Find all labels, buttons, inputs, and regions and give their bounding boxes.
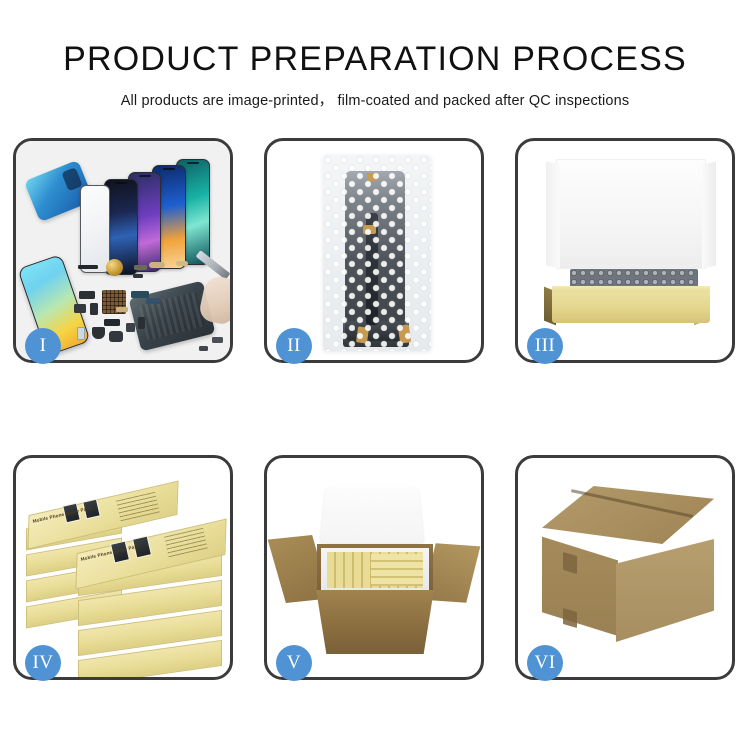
part-icon: [133, 274, 143, 278]
step-badge-4: IV: [25, 645, 61, 681]
part-icon: [126, 323, 135, 332]
part-icon: [138, 317, 145, 329]
carton-with-foam-illustration: [267, 458, 481, 677]
process-steps-grid: I II: [13, 138, 737, 680]
part-icon: [109, 331, 123, 342]
step-panel-5: V: [264, 455, 484, 680]
step-image-4: Mobile Phone Spare Parts Mobile Phone Sp…: [16, 458, 230, 677]
yellow-box-front-icon: [552, 291, 710, 323]
carton-right-face-icon: [616, 530, 714, 642]
part-icon: [176, 261, 188, 266]
step-panel-1: I: [13, 138, 233, 363]
part-icon: [90, 303, 98, 315]
step-panel-4: Mobile Phone Spare Parts Mobile Phone Sp…: [13, 455, 233, 680]
step-badge-1: I: [25, 328, 61, 364]
part-icon: [74, 304, 86, 313]
step-panel-3: III: [515, 138, 735, 363]
header: PRODUCT PREPARATION PROCESS All products…: [0, 0, 750, 110]
gold-connector-icon: [356, 326, 369, 343]
step-panel-2: II: [264, 138, 484, 363]
part-icon: [131, 291, 149, 298]
bubble-wrap-illustration: [267, 141, 481, 360]
step-image-6: [518, 458, 732, 677]
box-stack: Mobile Phone Spare Parts Mobile Phone Sp…: [22, 474, 230, 672]
phones-and-parts-illustration: [16, 141, 230, 360]
notch-icon: [187, 162, 199, 164]
stacked-boxes-illustration: Mobile Phone Spare Parts Mobile Phone Sp…: [16, 458, 230, 677]
part-icon: [104, 319, 120, 326]
part-icon: [116, 307, 128, 312]
open-yellow-box-illustration: [518, 141, 732, 360]
carton-tape-icon: [563, 552, 577, 574]
part-icon: [78, 265, 98, 269]
carton-front-icon: [311, 590, 439, 654]
step-badge-2: II: [276, 328, 312, 364]
part-icon: [212, 337, 223, 343]
carton-left-face-icon: [542, 528, 618, 636]
part-base-icon: [343, 321, 409, 347]
part-icon: [149, 262, 165, 268]
part-icon: [199, 346, 208, 351]
step-badge-6: VI: [527, 645, 563, 681]
page-title: PRODUCT PREPARATION PROCESS: [0, 42, 750, 78]
step-image-1: [16, 141, 230, 360]
yellow-boxes-icon: [371, 554, 423, 586]
step-image-5: [267, 458, 481, 677]
foam-sheet-icon: [556, 159, 706, 269]
foam-lid-icon: [320, 486, 425, 544]
notch-icon: [115, 182, 127, 184]
product-preparation-infographic: PRODUCT PREPARATION PROCESS All products…: [0, 0, 750, 750]
step-badge-3: III: [527, 328, 563, 364]
part-icon: [79, 291, 95, 299]
notch-icon: [139, 175, 151, 177]
notch-icon: [163, 168, 175, 170]
step-panel-6: VI: [515, 455, 735, 680]
part-icon: [77, 327, 85, 340]
vibration-motor-icon: [106, 259, 123, 276]
step-image-3: [518, 141, 732, 360]
flex-cable-icon: [366, 213, 378, 325]
gold-connector-icon: [367, 173, 377, 181]
gold-connector-icon: [363, 225, 376, 234]
step-image-2: [267, 141, 481, 360]
screen-protector-icon: [80, 185, 110, 273]
part-icon: [134, 265, 147, 270]
gold-connector-icon: [398, 324, 411, 343]
part-icon: [92, 327, 105, 339]
page-subtitle: All products are image-printed， film-coa…: [0, 89, 750, 110]
part-icon: [146, 298, 160, 304]
wrapped-part-icon: [345, 171, 405, 341]
bubble-wrap-bag-icon: [323, 155, 431, 351]
step-badge-5: V: [276, 645, 312, 681]
carton-tape-icon: [563, 608, 577, 628]
sealed-carton-illustration: [518, 458, 732, 677]
